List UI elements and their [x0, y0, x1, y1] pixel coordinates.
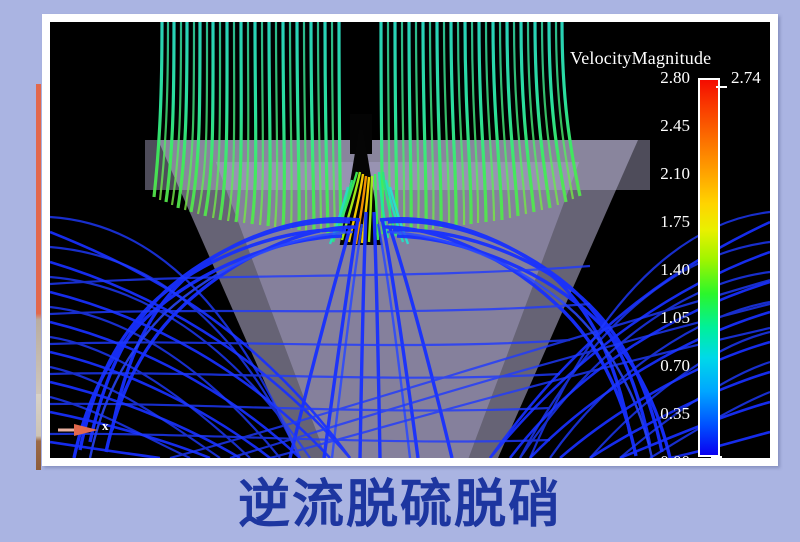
- render-window-frame: VelocityMagnitude 2.74 0.00 2.80 2.45 2.…: [42, 14, 778, 466]
- scalar-bar-tick: 1.40: [660, 260, 690, 280]
- scalar-bar-min-tick: [711, 456, 722, 458]
- scalar-bar-max-label: 2.74: [731, 68, 761, 88]
- scalar-bar-tick: 0.00: [660, 452, 690, 458]
- scalar-bar-tick-labels: 2.80 2.45 2.10 1.75 1.40 1.05 0.70 0.35 …: [590, 68, 690, 458]
- scalar-bar-tick: 0.35: [660, 404, 690, 424]
- render-view[interactable]: VelocityMagnitude 2.74 0.00 2.80 2.45 2.…: [50, 22, 770, 458]
- figure-caption: 逆流脱硫脱硝: [0, 470, 800, 540]
- left-edge-strip-lower: [36, 394, 41, 470]
- scalar-bar-min-label: 0.00: [729, 456, 759, 458]
- scalar-bar-tick: 2.80: [660, 68, 690, 88]
- visualization-canvas[interactable]: VelocityMagnitude 2.74 0.00 2.80 2.45 2.…: [50, 22, 770, 458]
- scalar-bar-tick: 1.75: [660, 212, 690, 232]
- scalar-bar-tick: 2.10: [660, 164, 690, 184]
- scalar-bar-title: VelocityMagnitude: [570, 48, 711, 69]
- scalar-bar-tick: 0.70: [660, 356, 690, 376]
- scalar-bar-max-tick: [716, 86, 727, 88]
- x-axis-label: x: [102, 418, 109, 434]
- scalar-bar-gradient[interactable]: [698, 78, 720, 457]
- x-axis-arrow-icon: [58, 423, 102, 437]
- scalar-bar-tick: 1.05: [660, 308, 690, 328]
- screenshot-root: VelocityMagnitude 2.74 0.00 2.80 2.45 2.…: [0, 0, 800, 542]
- scalar-bar-tick: 2.45: [660, 116, 690, 136]
- left-edge-strip: [36, 84, 41, 394]
